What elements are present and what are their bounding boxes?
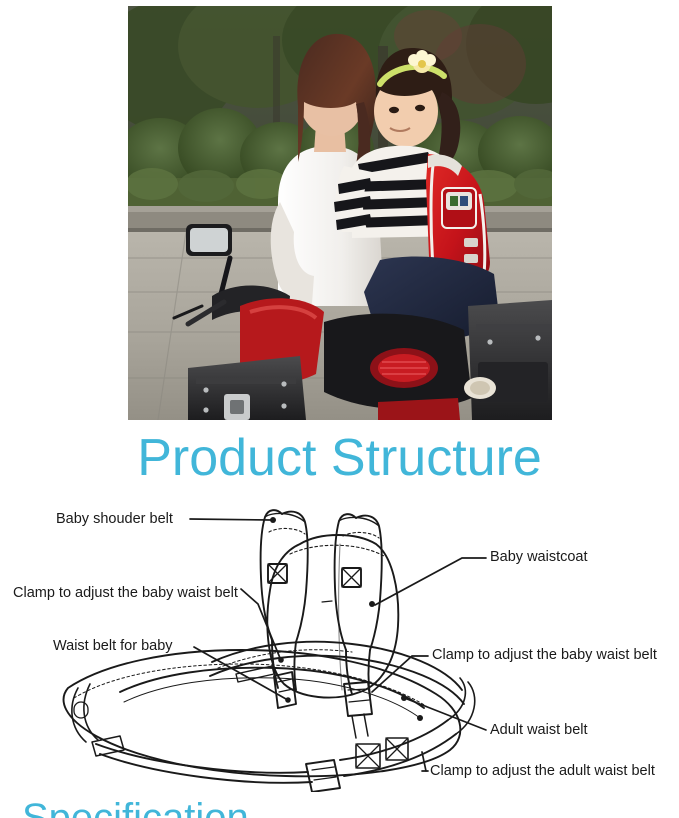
page-title: Product Structure: [0, 427, 679, 489]
label-baby-shoulder-belt: Baby shouder belt: [56, 511, 173, 528]
label-clamp-adult-waist-belt: Clamp to adjust the adult waist belt: [430, 763, 655, 780]
label-clamp-baby-waist-right: Clamp to adjust the baby waist belt: [432, 647, 657, 664]
label-clamp-baby-waist-left: Clamp to adjust the baby waist belt: [13, 585, 238, 602]
label-waist-belt-for-baby: Waist belt for baby: [53, 638, 173, 655]
specification-heading: Specification: [22, 798, 249, 818]
leader-baby-waistcoat: [375, 558, 486, 605]
label-adult-waist-belt: Adult waist belt: [490, 722, 588, 739]
bottom-heading-clip: Specification: [0, 798, 679, 818]
product-photo: [128, 6, 552, 420]
label-baby-waistcoat: Baby waistcoat: [490, 549, 588, 566]
product-photo-image: [128, 6, 552, 420]
leader-baby-shoulder-belt: [190, 519, 271, 520]
